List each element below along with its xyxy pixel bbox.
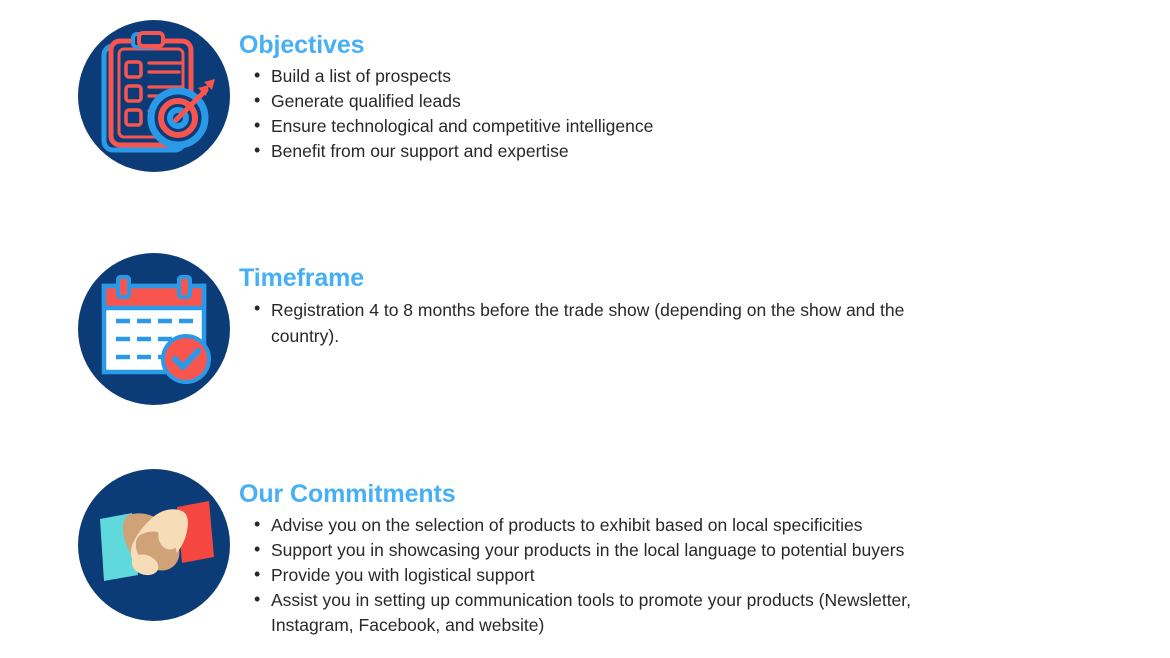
list-item: Ensure technological and competitive int… xyxy=(239,114,944,139)
calendar-check-icon-graphic xyxy=(78,253,230,405)
commitments-content: Our Commitments Advise you on the select… xyxy=(239,479,944,638)
list-item: Assist you in setting up communication t… xyxy=(239,588,944,638)
list-item: Benefit from our support and expertise xyxy=(239,139,944,164)
calendar-check-icon xyxy=(78,253,230,405)
list-item: Provide you with logistical support xyxy=(239,563,944,588)
handshake-icon-graphic xyxy=(78,469,230,621)
list-item: Generate qualified leads xyxy=(239,89,944,114)
handshake-icon xyxy=(78,469,230,621)
objectives-content: Objectives Build a list of prospects Gen… xyxy=(239,30,944,164)
clipboard-target-icon-graphic xyxy=(78,20,230,172)
timeframe-bullet-list: Registration 4 to 8 months before the tr… xyxy=(239,297,944,349)
list-item: Support you in showcasing your products … xyxy=(239,538,944,563)
clipboard-target-icon xyxy=(78,20,230,172)
objectives-bullet-list: Build a list of prospects Generate quali… xyxy=(239,64,944,164)
page-title-timeframe: Timeframe xyxy=(239,263,944,293)
timeframe-content: Timeframe Registration 4 to 8 months bef… xyxy=(239,263,944,349)
list-item: Advise you on the selection of products … xyxy=(239,513,944,538)
infographic-page: Objectives Build a list of prospects Gen… xyxy=(0,0,1170,658)
commitments-bullet-list: Advise you on the selection of products … xyxy=(239,513,944,638)
page-title-objectives: Objectives xyxy=(239,30,944,60)
page-title-commitments: Our Commitments xyxy=(239,479,944,509)
list-item: Registration 4 to 8 months before the tr… xyxy=(239,297,944,349)
list-item: Build a list of prospects xyxy=(239,64,944,89)
